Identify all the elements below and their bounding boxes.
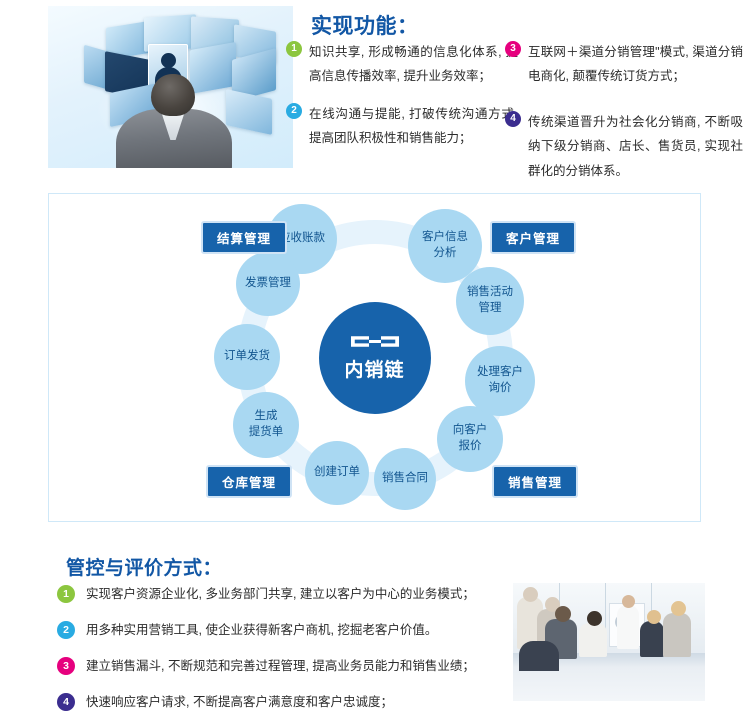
functions-column-right: 3 互联网＋渠道分销管理"模式, 渠道分销电商化, 颠覆传统订货方式； 4 传统… xyxy=(505,40,743,196)
function-text: 知识共享, 形成畅通的信息化体系, 提高信息传播效率, 提升业务效率； xyxy=(309,40,518,89)
attendee-head xyxy=(555,606,571,622)
page-root: 实现功能： 1 知识共享, 形成畅通的信息化体系, 提高信息传播效率, 提升业务… xyxy=(0,0,750,726)
diagram-node-handle-inquiry[interactable]: 处理客户询价 xyxy=(465,346,535,416)
diagram-node-order-delivery[interactable]: 订单发货 xyxy=(214,324,280,390)
list-item: 1 实现客户资源企业化, 多业务部门共享, 建立以客户为中心的业务模式； xyxy=(57,585,477,604)
attendee-head xyxy=(523,587,538,602)
diagram-node-label: 销售合同 xyxy=(379,471,431,487)
functions-title: 实现功能： xyxy=(311,10,419,40)
badge-number-4: 4 xyxy=(505,111,521,127)
businessman-head xyxy=(151,74,195,116)
function-text: 互联网＋渠道分销管理"模式, 渠道分销电商化, 颠覆传统订货方式； xyxy=(528,40,743,89)
function-item: 3 互联网＋渠道分销管理"模式, 渠道分销电商化, 颠覆传统订货方式； xyxy=(505,40,743,89)
badge-number-3: 3 xyxy=(57,657,75,675)
management-title: 管控与评价方式： xyxy=(66,553,222,580)
function-item: 1 知识共享, 形成畅通的信息化体系, 提高信息传播效率, 提升业务效率； xyxy=(286,40,518,89)
foreground-attendee xyxy=(519,641,559,671)
function-item: 2 在线沟通与提能, 打破传统沟通方式, 提高团队积极性和销售能力； xyxy=(286,102,518,151)
diagram-node-label: 生成提货单 xyxy=(246,409,287,440)
chain-link-icon xyxy=(348,333,402,350)
diagram-node-label: 创建订单 xyxy=(311,465,363,481)
list-item-text: 建立销售漏斗, 不断规范和完善过程管理, 提高业务员能力和销售业绩； xyxy=(86,657,477,675)
function-text: 传统渠道晋升为社会化分销商, 不断吸纳下级分销商、店长、售货员, 实现社群化的分… xyxy=(528,110,743,183)
diagram-node-label: 处理客户询价 xyxy=(474,365,526,396)
badge-number-4: 4 xyxy=(57,693,75,711)
list-item: 4 快速响应客户请求, 不断提高客户满意度和客户忠诚度； xyxy=(57,693,477,712)
badge-number-3: 3 xyxy=(505,41,521,57)
management-list: 1 实现客户资源企业化, 多业务部门共享, 建立以客户为中心的业务模式； 2 用… xyxy=(57,585,477,726)
function-text: 在线沟通与提能, 打破传统沟通方式, 提高团队积极性和销售能力； xyxy=(309,102,518,151)
diagram-node-sales-contract[interactable]: 销售合同 xyxy=(374,448,436,510)
badge-number-1: 1 xyxy=(286,41,302,57)
presenter-head xyxy=(622,595,635,608)
diagram-node-invoice-management[interactable]: 发票管理 xyxy=(236,252,300,316)
hub-label: 内销链 xyxy=(344,355,404,382)
badge-number-1: 1 xyxy=(57,585,75,603)
attendee-head xyxy=(647,610,661,624)
function-item: 4 传统渠道晋升为社会化分销商, 不断吸纳下级分销商、店长、售货员, 实现社群化… xyxy=(505,110,743,183)
diagram-node-customer-info[interactable]: 客户信息分析 xyxy=(408,209,482,283)
list-item-text: 用多种实用营销工具, 使企业获得新客户商机, 挖掘老客户价值。 xyxy=(86,621,477,639)
attendee-head xyxy=(671,601,686,616)
diagram-node-label: 订单发货 xyxy=(221,349,273,365)
diagram-chip-warehouse-management[interactable]: 仓库管理 xyxy=(206,465,292,498)
businessman-photo xyxy=(48,6,293,168)
list-item-text: 实现客户资源企业化, 多业务部门共享, 建立以客户为中心的业务模式； xyxy=(86,585,477,603)
diagram-node-label: 向客户报价 xyxy=(450,423,491,454)
list-item: 2 用多种实用营销工具, 使企业获得新客户商机, 挖掘老客户价值。 xyxy=(57,621,477,640)
diagram-node-label: 发票管理 xyxy=(242,276,294,292)
diagram-hub: 内销链 xyxy=(319,302,431,414)
meeting-attendee xyxy=(640,621,664,657)
diagram-node-label: 销售活动管理 xyxy=(464,285,516,316)
presenter xyxy=(617,605,639,649)
diagram-node-quote-to-customer[interactable]: 向客户报价 xyxy=(437,406,503,472)
badge-number-2: 2 xyxy=(286,103,302,119)
diagram-node-create-order[interactable]: 创建订单 xyxy=(305,441,369,505)
attendee-head xyxy=(587,611,602,626)
meeting-attendee xyxy=(579,623,607,657)
functions-column-left: 1 知识共享, 形成畅通的信息化体系, 提高信息传播效率, 提升业务效率； 2 … xyxy=(286,40,518,164)
diagram-node-generate-pickup[interactable]: 生成提货单 xyxy=(233,392,299,458)
value-chain-diagram: 内销链 应收账款发票管理订单发货生成提货单创建订单销售合同向客户报价处理客户询价… xyxy=(48,193,701,522)
diagram-chip-customer-management[interactable]: 客户管理 xyxy=(490,221,576,254)
diagram-node-sales-activity[interactable]: 销售活动管理 xyxy=(456,267,524,335)
list-item: 3 建立销售漏斗, 不断规范和完善过程管理, 提高业务员能力和销售业绩； xyxy=(57,657,477,676)
meeting-photo xyxy=(513,583,705,701)
list-item-text: 快速响应客户请求, 不断提高客户满意度和客户忠诚度； xyxy=(86,693,477,711)
diagram-chip-sales-management[interactable]: 销售管理 xyxy=(492,465,578,498)
badge-number-2: 2 xyxy=(57,621,75,639)
diagram-chip-settlement-management[interactable]: 结算管理 xyxy=(201,221,287,254)
diagram-canvas: 内销链 应收账款发票管理订单发货生成提货单创建订单销售合同向客户报价处理客户询价… xyxy=(49,194,700,521)
meeting-attendee xyxy=(663,613,691,657)
diagram-node-label: 客户信息分析 xyxy=(419,230,471,261)
floating-screen xyxy=(190,42,236,94)
